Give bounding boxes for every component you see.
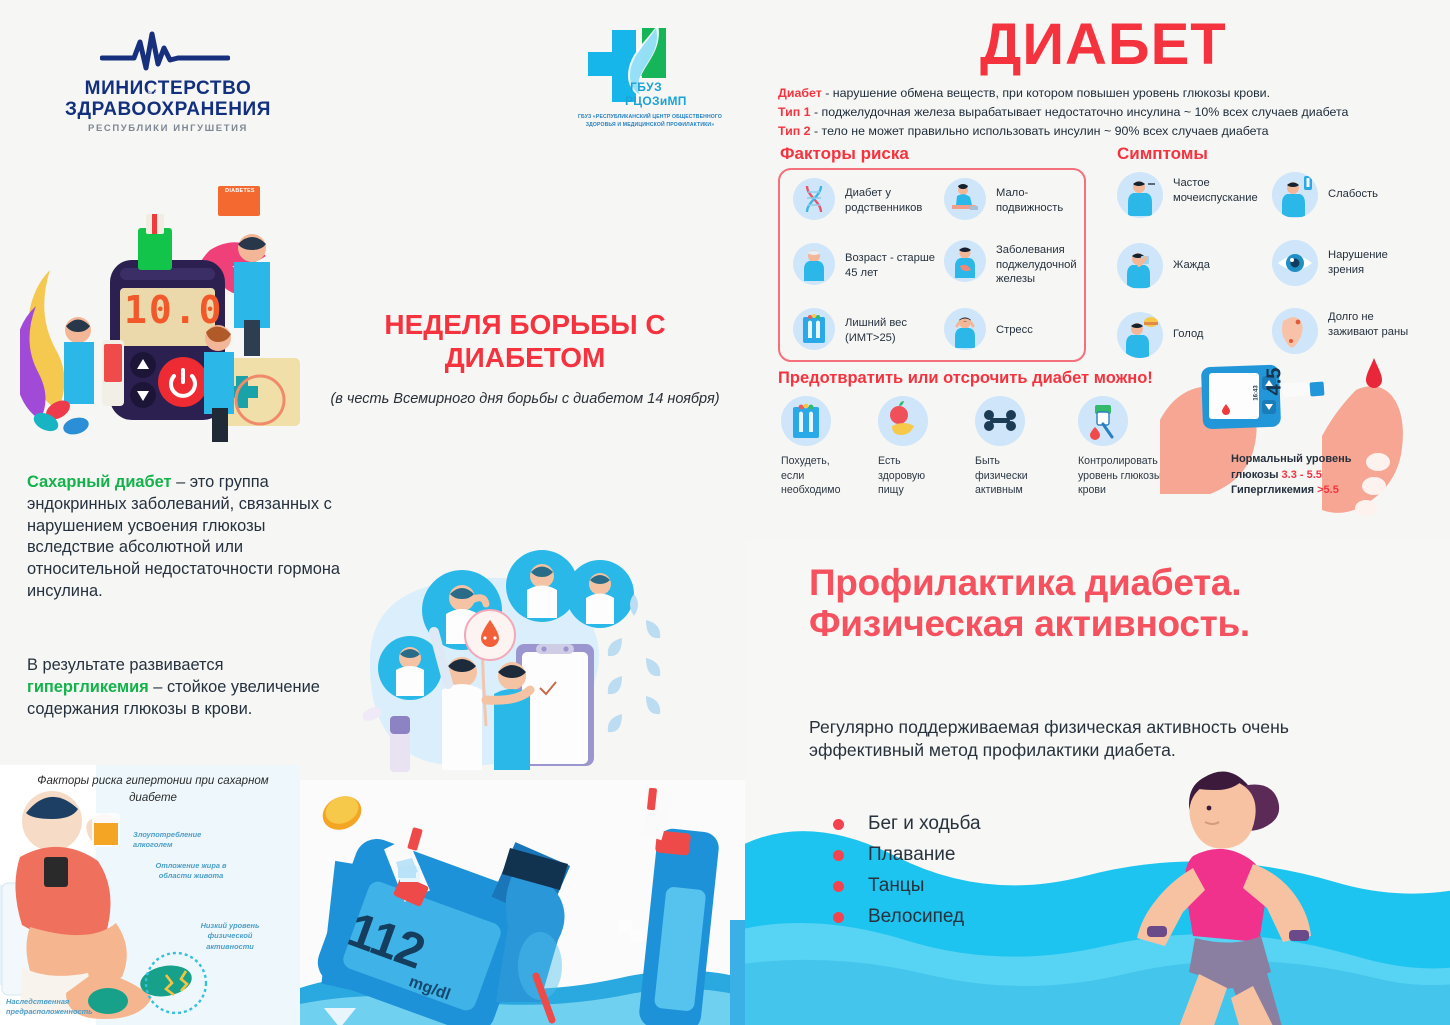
prevention-label-0: Похудеть, если необходимо xyxy=(781,454,843,498)
symptom-label-5: Долго не заживают раны xyxy=(1328,310,1414,339)
prevention-heading: Предотвратить или отсрочить диабет можно… xyxy=(778,369,1153,388)
risk-item-1: Мало-подвижность xyxy=(944,178,1084,228)
intro-text-2: - тело не может правильно использовать и… xyxy=(811,124,1269,138)
glucose-note-line2-pre: глюкозы xyxy=(1231,469,1282,481)
week-title: НЕДЕЛЯ БОРЬБЫ С ДИАБЕТОМ xyxy=(330,308,720,374)
ministry-line2: ЗДРАВООХРАНЕНИЯ xyxy=(48,99,288,120)
intro-text-0: - нарушение обмена веществ, при котором … xyxy=(822,86,1270,100)
prevention-label-1: Есть здоровую пищу xyxy=(878,454,938,498)
hyper-note-3: Наследственная предрасположенность xyxy=(6,997,98,1018)
prevention-item-1: Есть здоровую пищу xyxy=(878,396,938,496)
risk-item-5: Стресс xyxy=(944,308,1084,358)
hand-glucometer-illustration xyxy=(1160,340,1450,530)
activity-item-2: Танцы xyxy=(868,875,924,896)
risk-label-1: Мало-подвижность xyxy=(996,186,1080,215)
bullet-icon xyxy=(833,819,844,830)
urination-icon xyxy=(1117,172,1163,218)
risk-label-4: Лишний вес (ИМТ>25) xyxy=(845,316,941,345)
activity-list-item: Велосипед xyxy=(823,901,1163,932)
glucose-note-line3-pre: Гипергликемия xyxy=(1231,484,1317,496)
activity-item-1: Плавание xyxy=(868,844,955,865)
thirst-icon xyxy=(1117,243,1163,289)
blood-drop-value: 9.4 xyxy=(148,90,158,97)
pancreas-person-icon xyxy=(944,240,986,282)
ministry-logo: МИНИСТЕРСТВО ЗДРАВООХРАНЕНИЯ РЕСПУБЛИКИ … xyxy=(48,22,288,142)
activity-item-3: Велосипед xyxy=(868,906,964,927)
diabetes-intro: Диабет - нарушение обмена веществ, при к… xyxy=(778,84,1418,141)
activity-list-item: Бег и ходьба xyxy=(823,808,1163,839)
left-p2-key: гипергликемия xyxy=(27,678,149,696)
hypertension-caption: Факторы риска гипертонии при сахарном ди… xyxy=(18,773,288,806)
risk-item-0: Диабет у родственников xyxy=(793,178,943,228)
bullet-icon xyxy=(833,850,844,861)
left-p1-key: Сахарный диабет xyxy=(27,473,172,491)
ministry-line3: РЕСПУБЛИКИ ИНГУШЕТИЯ xyxy=(48,123,288,134)
left-paragraph-2: В результате развивается гипергликемия –… xyxy=(27,655,345,720)
left-p1-rest: – это группа эндокринных заболеваний, св… xyxy=(27,473,340,600)
glucose-level-note: Нормальный уровень глюкозы 3.3 - 5.5 Гип… xyxy=(1231,452,1361,499)
meters-illustration xyxy=(300,780,750,1025)
symptom-label-2: Жажда xyxy=(1173,258,1263,273)
intro-key-1: Тип 1 xyxy=(778,105,811,119)
glucometer-reading: 10.0 xyxy=(124,288,224,332)
gbuz-full-name: ГБУЗ «РЕСПУБЛИКАНСКИЙ ЦЕНТР ОБЩЕСТВЕННОГ… xyxy=(570,114,730,130)
symptom-item-3: Нарушение зрения xyxy=(1272,240,1412,294)
dna-icon xyxy=(793,178,835,220)
diabetes-badge-label: DIABETES xyxy=(219,188,261,194)
hyper-note-2: Низкий уровень физической активности xyxy=(186,921,274,952)
physical-activity-panel: Профилактика диабета. Физическая активно… xyxy=(745,540,1450,1025)
activity-lead: Регулярно поддерживаемая физическая акти… xyxy=(809,716,1369,762)
risk-label-3: Заболевания поджелудочной железы xyxy=(996,243,1088,287)
glucose-meter-image: 112 mg/dl xyxy=(300,780,750,1025)
intro-text-1: - поджелудочная железа вырабатывает недо… xyxy=(811,105,1349,119)
left-p2-pre: В результате развивается xyxy=(27,656,223,674)
activity-list-item: Плавание xyxy=(823,839,1163,870)
weakness-icon xyxy=(1272,172,1318,218)
diabetes-title: ДИАБЕТ xyxy=(980,16,1227,74)
risk-label-5: Стресс xyxy=(996,323,1080,338)
bullet-icon xyxy=(833,881,844,892)
intro-key-0: Диабет xyxy=(778,86,822,100)
symptom-item-0: Частое мочеиспускание xyxy=(1117,172,1272,226)
hand-meter-value: 4.5 xyxy=(1263,368,1286,396)
fruit-icon xyxy=(878,396,928,446)
stressed-person-icon xyxy=(944,308,986,350)
week-subtitle: (в честь Всемирного дня борьбы с диабето… xyxy=(320,390,730,410)
risk-factors-heading: Факторы риска xyxy=(780,144,909,164)
infographic-poster: МИНИСТЕРСТВО ЗДРАВООХРАНЕНИЯ РЕСПУБЛИКИ … xyxy=(0,0,1450,1025)
hypertension-risk-image: Факторы риска гипертонии при сахарном ди… xyxy=(0,765,300,1025)
symptoms-heading: Симптомы xyxy=(1117,144,1208,164)
ministry-line1: МИНИСТЕРСТВО xyxy=(48,78,288,99)
hyperglycemia-value: >5.5 xyxy=(1317,484,1339,496)
risk-item-2: Возраст - старше 45 лет xyxy=(793,243,943,293)
gbuz-abbr1: ГБУЗ xyxy=(630,80,730,94)
risk-label-0: Диабет у родственников xyxy=(845,186,941,215)
elderly-person-icon xyxy=(793,243,835,285)
people-illustration xyxy=(330,540,730,780)
prevention-item-0: Похудеть, если необходимо xyxy=(781,396,841,496)
intro-key-2: Тип 2 xyxy=(778,124,811,138)
activity-title: Профилактика диабета. Физическая активно… xyxy=(809,562,1339,645)
gbuz-abbr2: РЦОЗиМП xyxy=(625,94,730,108)
hunger-icon xyxy=(1117,312,1163,358)
activity-list: Бег и ходьба Плавание Танцы Велосипед xyxy=(823,808,1163,932)
gbuz-logo: ГБУЗ РЦОЗиМП ГБУЗ «РЕСПУБЛИКАНСКИЙ ЦЕНТР… xyxy=(570,22,730,134)
symptom-label-3: Нарушение зрения xyxy=(1328,248,1414,277)
symptom-item-2: Жажда xyxy=(1117,243,1272,297)
hyper-note-1: Отложение жира в области живота xyxy=(153,861,229,882)
risk-item-3: Заболевания поджелудочной железы xyxy=(944,240,1084,296)
symptom-label-1: Слабость xyxy=(1328,187,1412,202)
prevention-item-2: Быть физически активным xyxy=(975,396,1037,496)
pulse-wave-icon xyxy=(100,30,230,76)
hand-meter-time: 16:43 xyxy=(1254,385,1260,400)
risk-label-2: Возраст - старше 45 лет xyxy=(845,251,941,280)
hyper-note-0: Злоупотребление алкоголем xyxy=(133,830,205,851)
sitting-person-icon xyxy=(944,178,986,220)
left-paragraph-1: Сахарный диабет – это группа эндокринных… xyxy=(27,472,345,603)
activity-item-0: Бег и ходьба xyxy=(868,813,981,834)
risk-item-4: Лишний вес (ИМТ>25) xyxy=(793,308,943,358)
glucose-normal-range: 3.3 - 5.5 xyxy=(1282,469,1322,481)
glucometer-illustration xyxy=(20,210,320,460)
symptom-item-1: Слабость xyxy=(1272,172,1412,226)
weight-scale-icon xyxy=(781,396,831,446)
activity-list-item: Танцы xyxy=(823,870,1163,901)
dumbbell-icon xyxy=(975,396,1025,446)
weight-scale-icon xyxy=(793,308,835,350)
eye-icon xyxy=(1272,240,1318,286)
bullet-icon xyxy=(833,912,844,923)
prevention-label-2: Быть физически активным xyxy=(975,454,1037,498)
symptom-label-0: Частое мочеиспускание xyxy=(1173,176,1273,205)
glucose-test-icon xyxy=(1078,396,1128,446)
glucose-note-line1: Нормальный уровень xyxy=(1231,452,1361,468)
